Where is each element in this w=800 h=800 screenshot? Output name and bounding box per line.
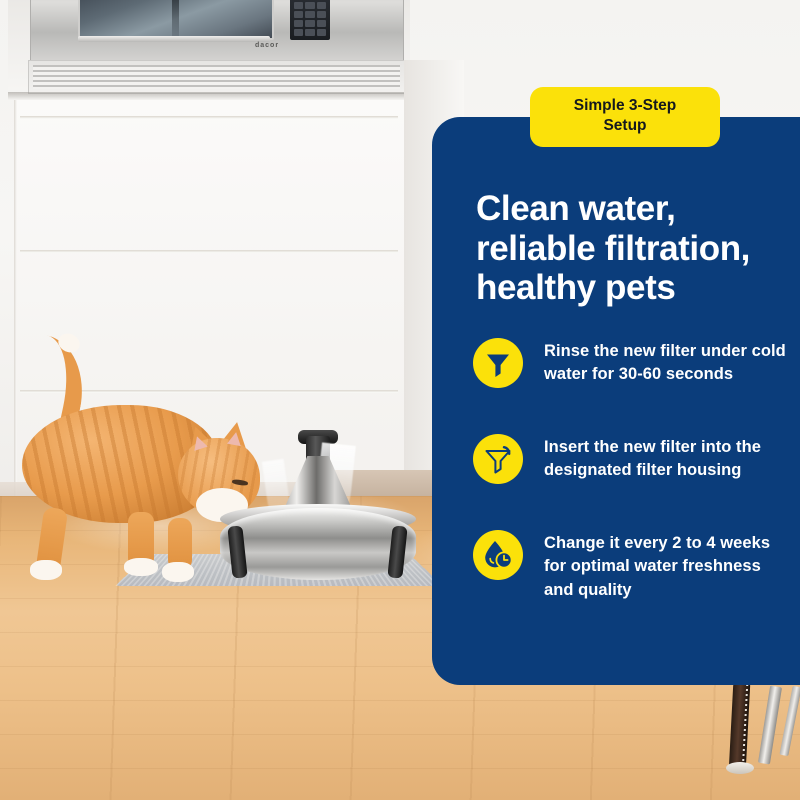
headline: Clean water, reliable filtration, health… (476, 189, 782, 308)
info-panel: Clean water, reliable filtration, health… (432, 117, 800, 685)
badge-simple-setup: Simple 3-Step Setup (530, 87, 720, 147)
cat-paw (30, 560, 62, 580)
appliance-brand-label: dacor (255, 42, 279, 49)
cat-paw (162, 562, 194, 582)
microwave-vent-grille (28, 60, 405, 94)
microwave-shadow (8, 92, 410, 100)
chair-leg-foot (726, 762, 754, 774)
product-marketing-image: dacor (0, 0, 800, 800)
step-item-1: Rinse the new filter under cold water fo… (473, 338, 793, 388)
step-item-2: Insert the new filter into the designate… (473, 434, 793, 484)
headline-line-1: Clean water, (476, 189, 782, 229)
step-text-1: Rinse the new filter under cold water fo… (544, 338, 793, 387)
microwave-control-panel (290, 0, 330, 40)
microwave-handle (78, 36, 270, 42)
step-item-3: Change it every 2 to 4 weeks for optimal… (473, 530, 793, 602)
funnel-solid-icon (473, 338, 523, 388)
cat-paw (124, 558, 158, 576)
droplet-clock-icon (473, 530, 523, 580)
funnel-insert-icon (473, 434, 523, 484)
badge-line-1: Simple 3-Step (540, 96, 710, 116)
badge-line-2: Setup (540, 116, 710, 136)
headline-line-2: reliable filtration, (476, 229, 782, 269)
step-text-2: Insert the new filter into the designate… (544, 434, 793, 483)
step-text-3: Change it every 2 to 4 weeks for optimal… (544, 530, 793, 602)
microwave-keypad (294, 0, 326, 35)
fountain-legs (226, 526, 410, 582)
microwave-door-glass (78, 0, 274, 40)
headline-line-3: healthy pets (476, 268, 782, 308)
pet-water-fountain (218, 430, 418, 590)
steps-list: Rinse the new filter under cold water fo… (473, 338, 793, 602)
